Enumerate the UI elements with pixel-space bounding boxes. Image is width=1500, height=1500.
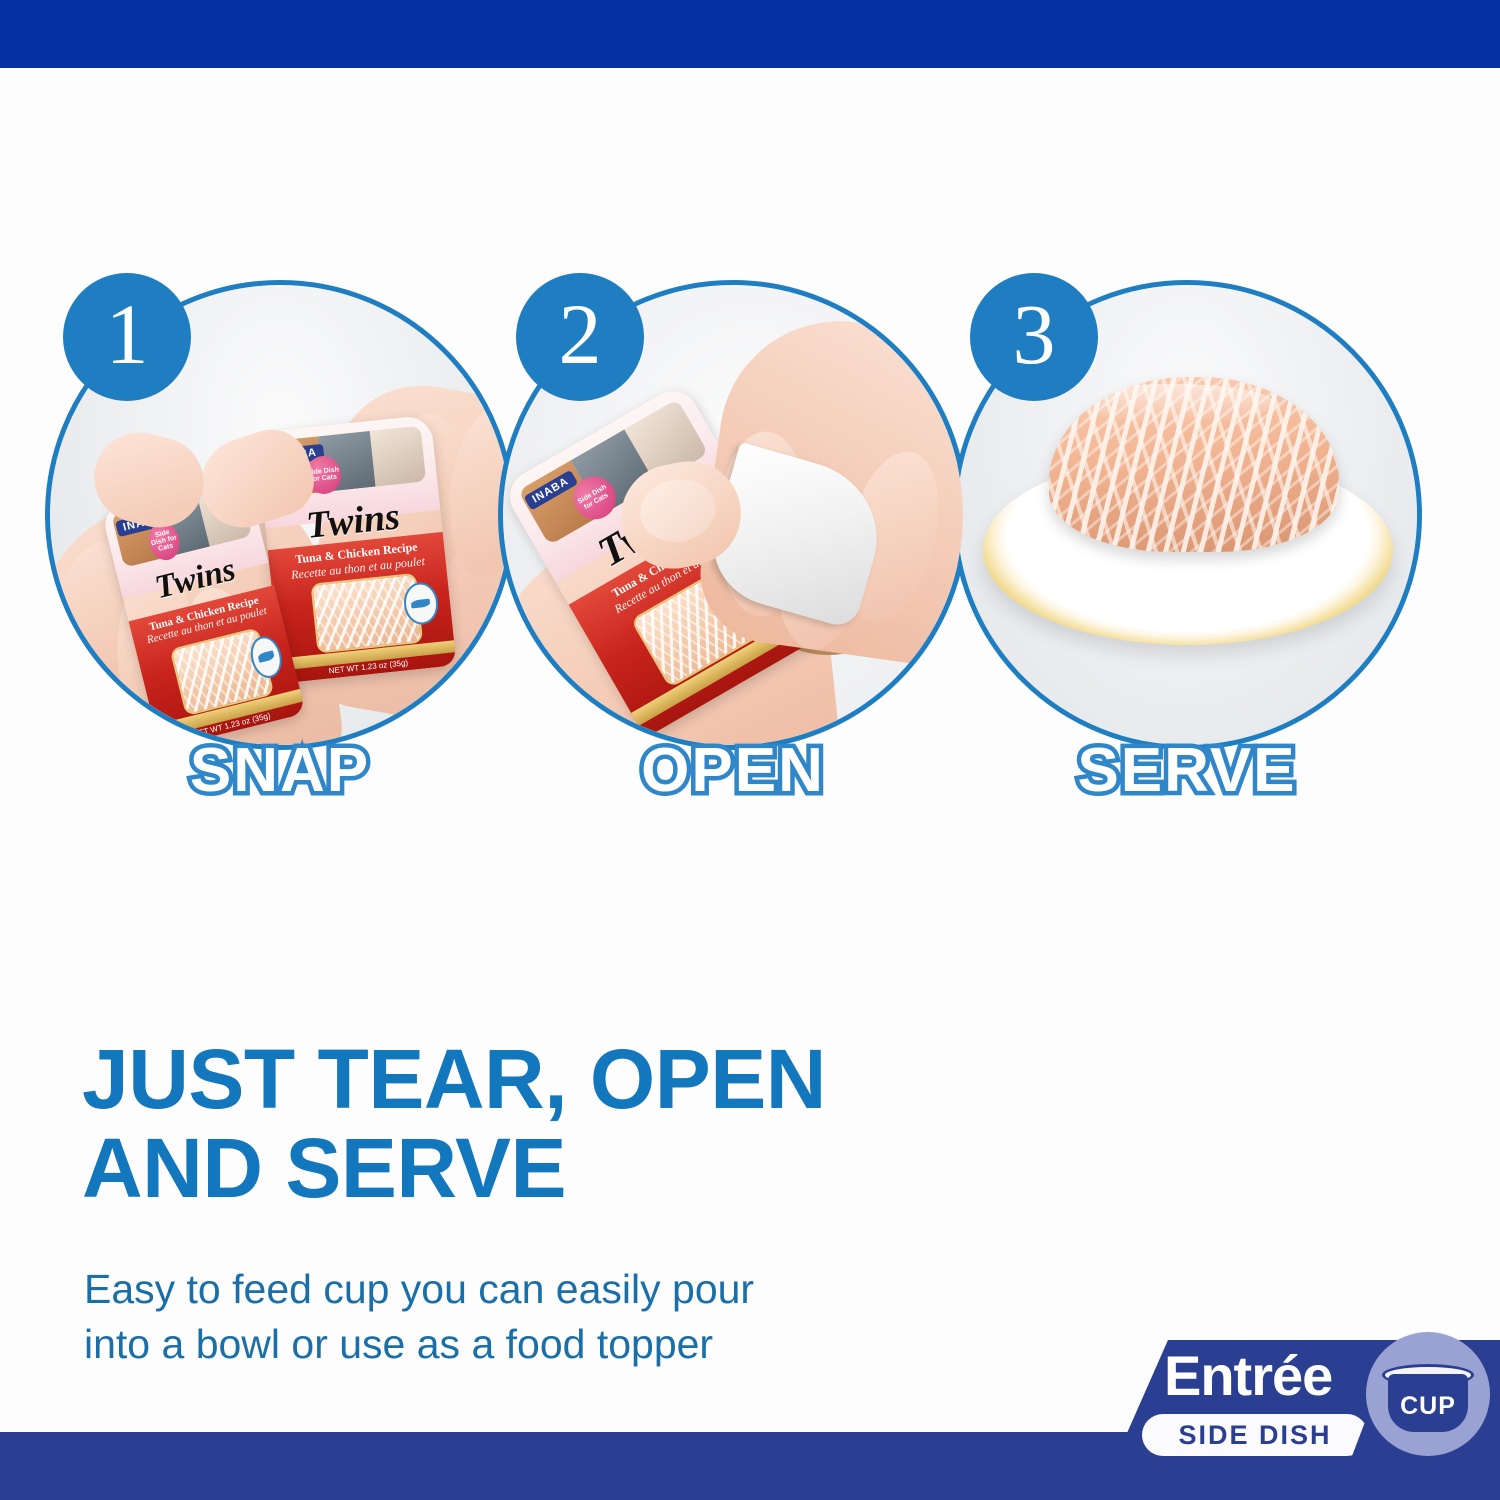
infographic-page: INABA Side Dish for Cats Twins Tuna & Ch… bbox=[0, 0, 1500, 1500]
step-2-number: 2 bbox=[516, 273, 644, 401]
food-gloss bbox=[1072, 384, 1275, 423]
subcopy-line-2: into a bowl or use as a food topper bbox=[84, 1317, 874, 1372]
step-1: INABA Side Dish for Cats Twins Tuna & Ch… bbox=[45, 255, 515, 825]
step-2-caption: OPEN bbox=[498, 735, 968, 806]
headline-line-1: JUST TEAR, OPEN bbox=[82, 1035, 982, 1124]
step-1-number: 1 bbox=[63, 273, 191, 401]
top-accent-bar bbox=[0, 0, 1500, 68]
headline-line-2: AND SERVE bbox=[82, 1124, 982, 1213]
subcopy-line-1: Easy to feed cup you can easily pour bbox=[84, 1262, 874, 1317]
steps-row: INABA Side Dish for Cats Twins Tuna & Ch… bbox=[0, 255, 1500, 825]
step-2: INABA Side Dish for Cats Twins Tuna & Ch… bbox=[498, 255, 968, 825]
step-3-number: 3 bbox=[970, 273, 1098, 401]
served-food-portion bbox=[1049, 377, 1339, 552]
entree-label: Entrée bbox=[1164, 1348, 1332, 1404]
cup-icon: CUP bbox=[1366, 1332, 1490, 1456]
step-3: 3 SERVE bbox=[952, 255, 1422, 825]
headline: JUST TEAR, OPEN AND SERVE bbox=[82, 1035, 982, 1213]
thumbnail-icon bbox=[634, 472, 721, 548]
subcopy: Easy to feed cup you can easily pour int… bbox=[84, 1262, 874, 1373]
step-1-caption: SNAP bbox=[45, 735, 515, 806]
step-3-caption: SERVE bbox=[952, 735, 1422, 806]
side-dish-label: SIDE DISH bbox=[1142, 1414, 1368, 1456]
cup-icon-body: CUP bbox=[1388, 1374, 1468, 1432]
cup-label: CUP bbox=[1400, 1392, 1456, 1421]
